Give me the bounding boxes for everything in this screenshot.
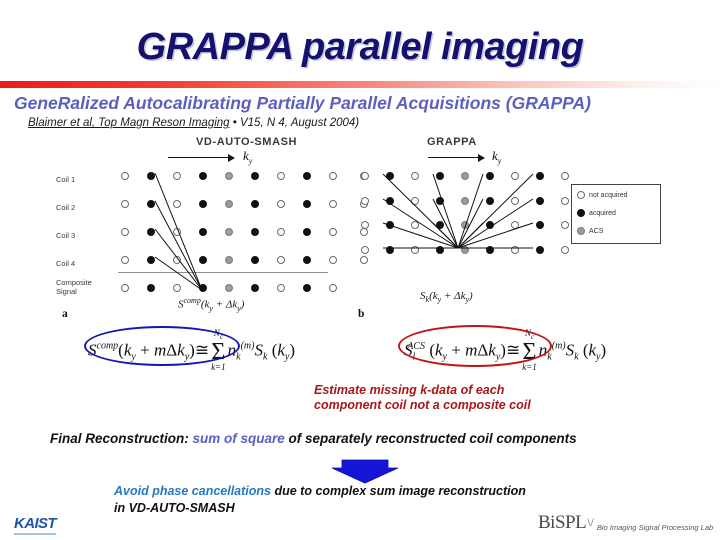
left-ky-axis-label: ky xyxy=(243,148,252,166)
bispl-logo: BiSPL \/ Bio Imaging Signal Processing L… xyxy=(538,512,713,534)
legend-label-acs: ACS xyxy=(589,228,603,235)
legend-label-acquired: acquired xyxy=(589,210,616,217)
left-ky-arrow-shaft xyxy=(168,157,228,158)
composite-label-line1: Composite xyxy=(56,278,92,287)
kaist-logo: KAIST xyxy=(14,515,56,535)
final-prefix: Final Reconstruction: xyxy=(50,431,193,446)
final-suffix: of separately reconstructed coil compone… xyxy=(285,431,577,446)
left-connector-lines xyxy=(110,168,370,308)
coil-label-3: Coil 3 xyxy=(56,231,75,240)
right-ky-arrow-shaft xyxy=(428,157,478,158)
citation-details: • V15, N 4, August 2004) xyxy=(230,117,360,129)
page-title: GRAPPA parallel imaging xyxy=(0,26,720,69)
right-panel-caption: Sk(ky + Δky) xyxy=(420,290,473,304)
coil-label-4: Coil 4 xyxy=(56,259,75,268)
blue-note: Avoid phase cancellations due to complex… xyxy=(114,483,526,517)
legend-item-acs: ACS xyxy=(577,227,603,235)
legend-label-not-acquired: not acquired xyxy=(589,192,628,199)
citation-journal: Blaimer et al, Top Magn Reson Imaging xyxy=(28,117,230,129)
subtitle: GeneRalized Autocalibrating Partially Pa… xyxy=(14,93,591,114)
final-accent: sum of square xyxy=(193,431,285,446)
legend-marker-acquired xyxy=(577,209,585,217)
legend-item-acquired: acquired xyxy=(577,209,616,217)
citation: Blaimer et al, Top Magn Reson Imaging • … xyxy=(28,117,359,129)
equation-left-highlight-ellipse xyxy=(84,326,240,366)
legend-marker-acs xyxy=(577,227,585,235)
legend-item-not-acquired: not acquired xyxy=(577,191,628,199)
right-ky-axis-label: ky xyxy=(492,148,501,166)
red-note: Estimate missing k-data of each componen… xyxy=(314,383,531,413)
bispl-tick-icon: \/ xyxy=(587,515,594,530)
blue-note-line-1: Avoid phase cancellations due to complex… xyxy=(114,483,526,500)
down-arrow-icon xyxy=(330,458,400,484)
legend-marker-not-acquired xyxy=(577,191,585,199)
equation-right-highlight-ellipse xyxy=(398,325,552,367)
final-reconstruction-line: Final Reconstruction: sum of square of s… xyxy=(50,431,577,446)
blue-note-accent: Avoid phase cancellations xyxy=(114,484,271,498)
coil-label-1: Coil 1 xyxy=(56,175,75,184)
left-ky-arrow-head xyxy=(228,154,235,162)
left-panel-letter: a xyxy=(62,308,68,320)
left-panel-caption: Scomp(ky + Δky) xyxy=(178,296,244,313)
coil-label-2: Coil 2 xyxy=(56,203,75,212)
title-divider-rule xyxy=(0,81,720,88)
right-ky-arrow-head xyxy=(478,154,485,162)
composite-label-line2: Signal xyxy=(56,287,77,296)
red-note-line-2: component coil not a composite coil xyxy=(314,398,531,413)
blue-note-rest: due to complex sum image reconstruction xyxy=(271,484,526,498)
legend-box: not acquired acquired ACS xyxy=(571,184,661,244)
red-note-line-1: Estimate missing k-data of each xyxy=(314,383,531,398)
right-panel-heading: GRAPPA xyxy=(427,136,477,148)
left-panel-heading: VD-AUTO-SMASH xyxy=(196,136,297,148)
right-panel-letter: b xyxy=(358,308,364,320)
blue-note-line-2: in VD-AUTO-SMASH xyxy=(114,500,526,517)
bispl-tagline: Bio Imaging Signal Processing Lab xyxy=(597,523,713,532)
bispl-wordmark: BiSPL xyxy=(538,512,586,534)
right-connector-lines xyxy=(358,170,578,280)
